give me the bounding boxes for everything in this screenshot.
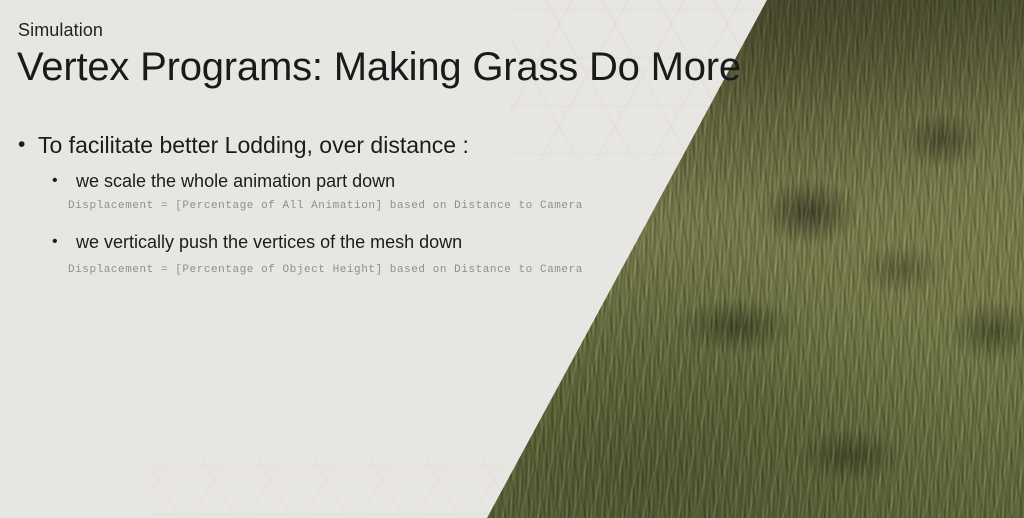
code-line: Displacement = [Percentage of All Animat… [14, 197, 574, 215]
code-line: Displacement = [Percentage of Object Hei… [14, 261, 574, 279]
slide-title: Vertex Programs: Making Grass Do More [17, 43, 741, 91]
bullet-level1-text: To facilitate better Lodding, over dista… [38, 132, 469, 158]
bullet-level2: • we scale the whole animation part down [14, 168, 574, 194]
bullet-dot-icon: • [52, 168, 58, 194]
bullet-level2-text: we scale the whole animation part down [76, 171, 395, 191]
slide-canvas: Simulation Vertex Programs: Making Grass… [0, 0, 1024, 518]
triangular-lattice-watermark-bottom [150, 458, 510, 518]
slide-eyebrow-label: Simulation [18, 19, 103, 41]
bullet-dot-icon: • [18, 130, 25, 160]
bullet-dot-icon: • [52, 229, 58, 255]
bullet-level1: • To facilitate better Lodding, over dis… [14, 130, 574, 160]
bullet-level2-text: we vertically push the vertices of the m… [76, 232, 462, 252]
bullet-level2: • we vertically push the vertices of the… [14, 229, 574, 255]
slide-body: • To facilitate better Lodding, over dis… [14, 130, 574, 293]
